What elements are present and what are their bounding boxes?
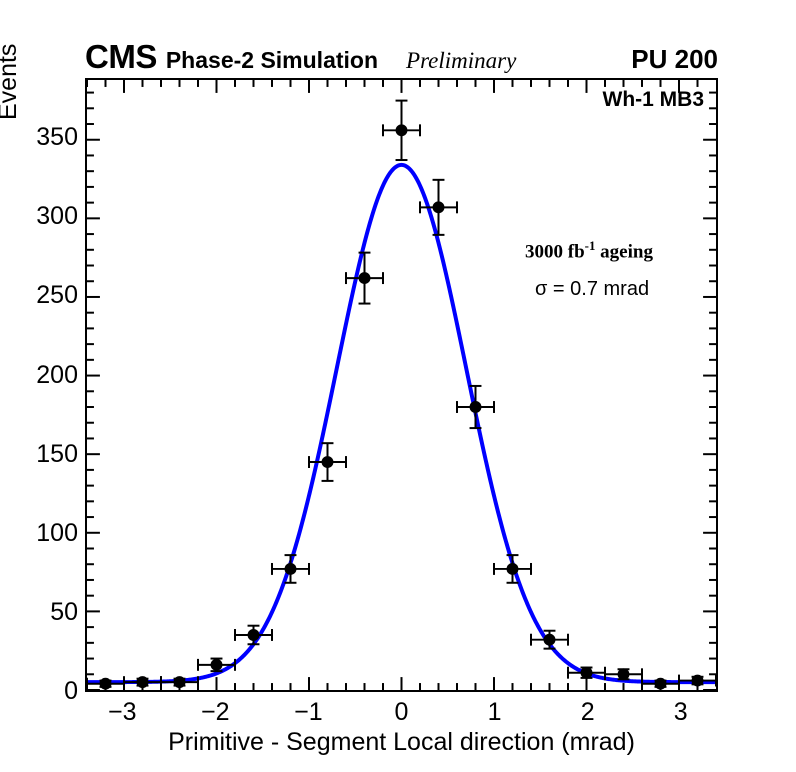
data-marker: [211, 659, 223, 671]
y-axis-tick-labels: 050100150200250300350: [0, 0, 78, 772]
sigma-annotation: σ = 0.7 mrad: [535, 278, 649, 301]
data-marker: [581, 667, 593, 679]
data-marker: [100, 678, 112, 690]
x-tick-label: 0: [372, 700, 432, 725]
y-tick-label: 350: [8, 125, 78, 150]
ageing-exponent: -1: [585, 238, 596, 253]
y-tick-label: 200: [8, 363, 78, 388]
x-tick-label: 2: [558, 700, 618, 725]
data-point: [420, 180, 457, 235]
pileup-label: PU 200: [631, 46, 718, 72]
y-tick-label: 100: [8, 521, 78, 546]
data-point: [235, 626, 272, 645]
x-tick-label: 3: [651, 700, 711, 725]
ageing-value: 3000 fb: [525, 241, 585, 262]
data-marker: [174, 676, 186, 688]
simulation-label: Phase-2 Simulation: [166, 49, 378, 72]
data-marker: [618, 668, 630, 680]
data-marker: [285, 563, 297, 575]
x-axis-title: Primitive - Segment Local direction (mra…: [85, 728, 718, 757]
y-tick-label: 150: [8, 442, 78, 467]
x-tick-label: −2: [185, 700, 245, 725]
x-tick-label: 1: [465, 700, 525, 725]
chamber-label: Wh-1 MB3: [603, 88, 705, 112]
data-point: [124, 676, 161, 688]
data-point: [679, 675, 716, 687]
cms-header: CMS Phase-2 Simulation Preliminary PU 20…: [85, 40, 718, 72]
x-tick-label: −1: [278, 700, 338, 725]
data-marker: [692, 675, 704, 687]
data-point: [272, 555, 309, 583]
data-point: [531, 631, 568, 649]
data-marker: [322, 456, 334, 468]
data-marker: [655, 678, 667, 690]
axis-ticks: [87, 80, 716, 690]
y-tick-label: 250: [8, 283, 78, 308]
data-point: [457, 386, 494, 428]
chart-page: CMS Phase-2 Simulation Preliminary PU 20…: [0, 0, 796, 772]
data-points: [87, 101, 716, 690]
data-marker: [470, 401, 482, 413]
data-point: [87, 678, 124, 690]
x-tick-label: −3: [92, 700, 152, 725]
data-point: [494, 555, 531, 583]
data-marker: [137, 676, 149, 688]
data-marker: [433, 201, 445, 213]
preliminary-label: Preliminary: [406, 49, 516, 72]
y-tick-label: 50: [8, 600, 78, 625]
data-point: [383, 101, 420, 160]
ageing-annotation: 3000 fb-1 ageing: [525, 238, 653, 263]
ageing-suffix: ageing: [595, 241, 653, 262]
data-marker: [507, 563, 519, 575]
cms-logo: CMS: [85, 40, 157, 73]
y-tick-label: 300: [8, 204, 78, 229]
data-marker: [396, 124, 408, 136]
data-marker: [359, 272, 371, 284]
data-point: [642, 678, 679, 690]
data-marker: [248, 629, 260, 641]
data-marker: [544, 634, 556, 646]
plot-canvas: [87, 80, 716, 690]
plot-frame: Wh-1 MB3 3000 fb-1 ageing σ = 0.7 mrad: [85, 78, 718, 692]
